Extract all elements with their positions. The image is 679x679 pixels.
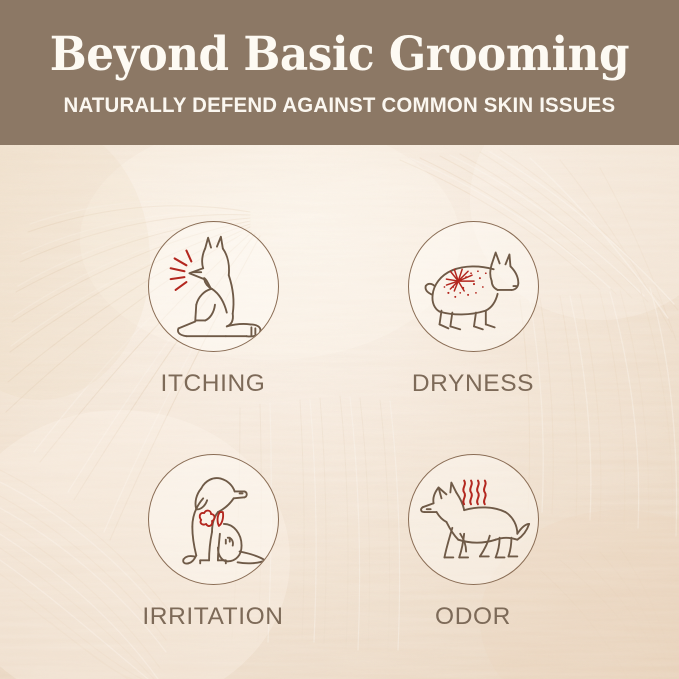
benefit-item-odor: ODOR [368, 454, 578, 631]
benefit-label-odor: ODOR [435, 603, 511, 631]
benefit-label-dryness: DRYNESS [412, 370, 534, 398]
icon-circle-irritation [148, 454, 279, 585]
dry-skin-burst-accent [446, 269, 474, 291]
benefit-label-irritation: IRRITATION [142, 603, 283, 631]
icon-circle-odor [408, 454, 539, 585]
benefit-icon-grid: ITCHING [0, 145, 679, 679]
dog-scratching-icon [149, 221, 278, 352]
header-band: Beyond Basic Grooming NATURALLY DEFEND A… [0, 0, 679, 145]
benefit-item-irritation: IRRITATION [108, 454, 318, 631]
dog-dry-skin-icon [409, 221, 538, 352]
benefit-item-dryness: DRYNESS [368, 221, 578, 398]
page-subtitle: NATURALLY DEFEND AGAINST COMMON SKIN ISS… [64, 95, 616, 117]
dog-irritated-skin-icon [149, 454, 278, 585]
icon-circle-itching [148, 221, 279, 352]
itch-burst-accent [170, 251, 191, 290]
dog-odor-icon [409, 454, 538, 585]
icon-circle-dryness [408, 221, 539, 352]
page-title: Beyond Basic Grooming [50, 31, 629, 78]
benefit-label-itching: ITCHING [161, 370, 266, 398]
odor-waves-accent [463, 481, 485, 505]
promo-image-canvas: Beyond Basic Grooming NATURALLY DEFEND A… [0, 0, 679, 679]
irritation-patch-accent [199, 511, 222, 526]
benefit-item-itching: ITCHING [108, 221, 318, 398]
